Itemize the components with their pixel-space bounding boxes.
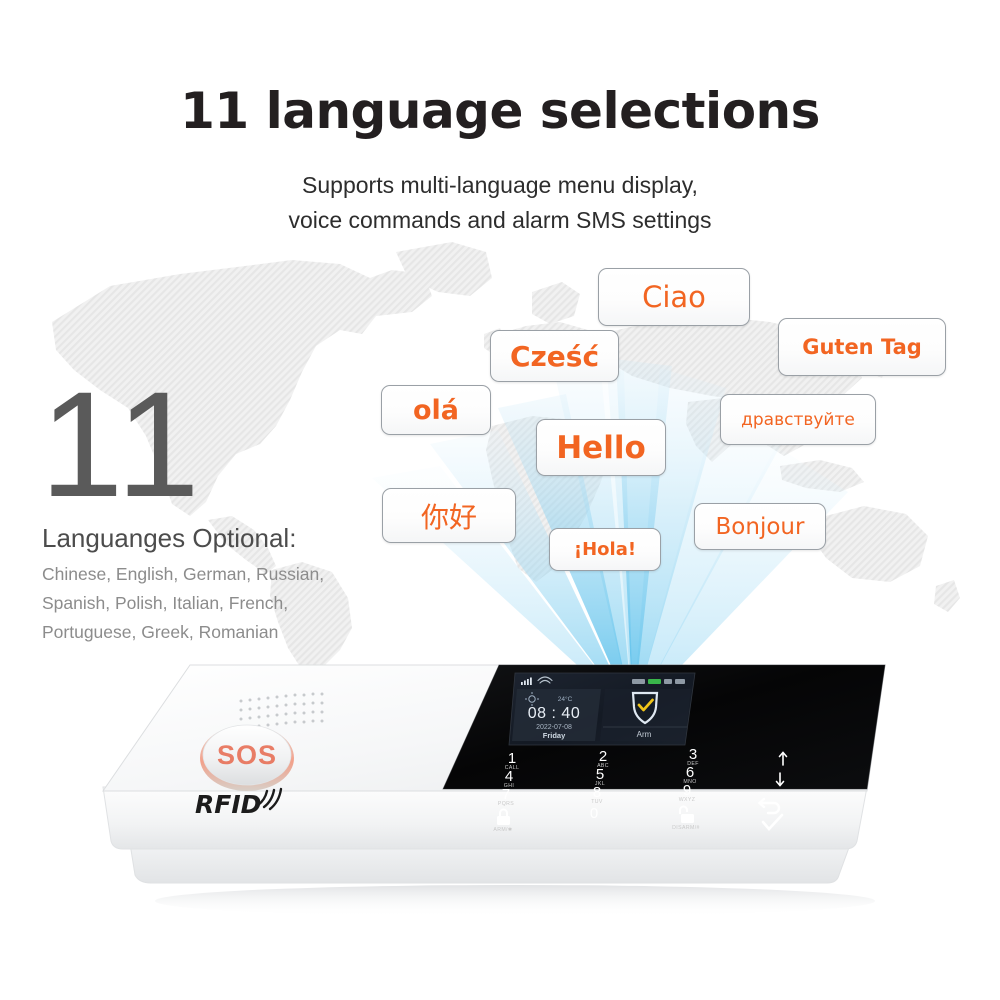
screen-arm-tile[interactable]: Arm xyxy=(600,689,691,741)
device-screen[interactable]: 24°C 08 : 40 2022-07-08 Friday Arm xyxy=(509,673,695,745)
alarm-panel-device: SOS RFID xyxy=(95,655,905,925)
language-bubble-french: Bonjour xyxy=(694,503,826,550)
screen-status-right xyxy=(632,679,685,684)
page-root: 11 language selections Supports multi-la… xyxy=(0,0,1000,1000)
language-bubble-german: Guten Tag xyxy=(778,318,946,376)
language-bubble-english: Hello xyxy=(536,419,666,476)
keypad-key-8[interactable]: 8 TUV xyxy=(591,784,603,805)
keypad-key-disarm-sub: DISARM/# xyxy=(672,825,700,831)
screen-temperature: 24°C xyxy=(558,695,573,703)
sos-button[interactable]: SOS xyxy=(200,725,294,791)
page-subtitle: Supports multi-language menu display, vo… xyxy=(0,168,1000,238)
page-title: 11 language selections xyxy=(0,82,1000,140)
screen-arm-label: Arm xyxy=(637,730,652,739)
language-count: 11 xyxy=(40,378,204,510)
rfid-label: RFID xyxy=(195,790,261,819)
page-subtitle-line1: Supports multi-language menu display, xyxy=(302,172,698,198)
screen-weekday: Friday xyxy=(543,731,566,740)
sos-button-label: SOS xyxy=(217,740,277,770)
language-count-caption: Languanges Optional: xyxy=(42,523,296,554)
keypad-key-arm-sub: ARM/✱ xyxy=(493,827,512,833)
keypad-key-0-digit: 0 xyxy=(590,805,598,822)
language-bubble-polish: Cześć xyxy=(490,330,619,382)
language-bubble-chinese: 你好 xyxy=(382,488,516,543)
language-list-line2: Spanish, Polish, Italian, French, xyxy=(42,589,372,618)
language-list-line3: Portuguese, Greek, Romanian xyxy=(42,618,372,647)
screen-time: 08 : 40 xyxy=(528,705,580,722)
device-shadow xyxy=(155,885,875,917)
language-bubble-russian: дравствуйте xyxy=(720,394,876,445)
keypad-key-9-sub: WXYZ xyxy=(679,797,696,803)
keypad-key-7-sub: PQRS xyxy=(498,801,514,807)
screen-date: 2022-07-08 xyxy=(536,724,572,731)
language-bubble-italian: Ciao xyxy=(598,268,750,326)
alarm-panel-svg: SOS RFID xyxy=(95,655,905,925)
language-bubble-portuguese: olá xyxy=(381,385,491,435)
language-list: Chinese, English, German, Russian, Spani… xyxy=(42,560,372,647)
language-list-line1: Chinese, English, German, Russian, xyxy=(42,560,372,589)
keypad-key-0[interactable]: 0 xyxy=(590,805,598,822)
language-bubble-spanish: ¡Hola! xyxy=(549,528,661,571)
